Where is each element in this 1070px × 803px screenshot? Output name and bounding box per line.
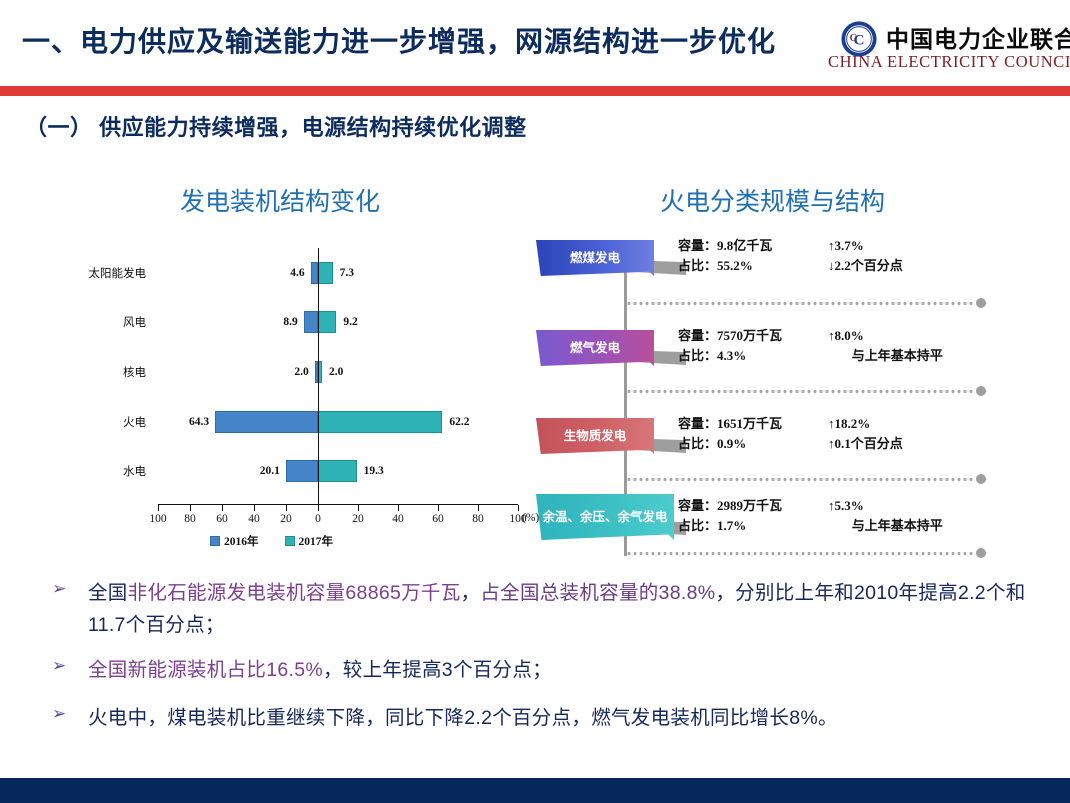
chart-value-2017: 2.0 (329, 366, 343, 378)
chart-bar-2016 (311, 262, 318, 284)
thermal-category-banner[interactable]: 生物质发电 (536, 418, 654, 454)
chart-axis-tick-label: 60 (216, 513, 228, 525)
bullet-text-part: 全国 (88, 582, 128, 604)
chart-axis-tick-label: 20 (352, 513, 364, 525)
connector-end-dot-icon (976, 386, 986, 396)
bullet-item: ➢火电中，煤电装机比重继续下降，同比下降2.2个百分点，燃气发电装机同比增长8%… (52, 703, 1032, 735)
bullet-text: 全国非化石能源发电装机容量68865万千瓦，占全国总装机容量的38.8%，分别比… (88, 578, 1032, 641)
chart-axis-tick-label: 80 (472, 513, 484, 525)
right-chart-title: 火电分类规模与结构 (660, 182, 885, 218)
chart-axis-tick-label: 40 (392, 513, 404, 525)
chart-row: 风电8.99.2 (60, 298, 520, 348)
bullet-item: ➢全国新能源装机占比16.5%，较上年提高3个百分点； (52, 655, 1032, 687)
thermal-item-text: 容量：9.8亿千瓦↑3.7%占比：55.2%↓2.2个百分点 (678, 236, 1038, 276)
chart-bar-2017 (318, 460, 357, 482)
legend-swatch-icon (285, 536, 295, 546)
dotted-connector (626, 302, 974, 305)
chart-axis-tick (358, 505, 359, 511)
chart-value-2016: 64.3 (183, 416, 209, 428)
thermal-power-breakdown-diagram: 燃煤发电容量：9.8亿千瓦↑3.7%占比：55.2%↓2.2个百分点燃气发电容量… (528, 240, 1038, 560)
connector-end-dot-icon (976, 474, 986, 484)
dotted-connector (626, 552, 974, 555)
thermal-capacity-value: 容量：1651万千瓦 (678, 414, 828, 434)
chart-value-2017: 7.3 (340, 267, 354, 279)
chart-value-2017: 19.3 (364, 465, 384, 477)
thermal-share-value: 占比：55.2% (678, 256, 828, 276)
svg-text:C: C (850, 33, 858, 44)
chart-bar-2016 (286, 460, 318, 482)
legend-item-2017: 2017年 (285, 533, 334, 549)
thermal-share-change: ↓2.2个百分点 (828, 256, 1028, 276)
thermal-capacity-change: ↑5.3% (828, 496, 1028, 516)
thermal-category-banner[interactable]: 燃气发电 (536, 330, 654, 366)
bullet-list: ➢全国非化石能源发电装机容量68865万千瓦，占全国总装机容量的38.8%，分别… (52, 578, 1032, 744)
thermal-capacity-change: ↑8.0% (828, 326, 1028, 346)
thermal-item-line: 容量：1651万千瓦↑18.2% (678, 414, 1038, 434)
thermal-item-line: 占比：1.7%与上年基本持平 (678, 516, 1038, 536)
thermal-share-change: 与上年基本持平 (818, 516, 1038, 536)
chart-value-2016: 4.6 (279, 267, 305, 279)
thermal-item-line: 占比：4.3%与上年基本持平 (678, 346, 1038, 366)
legend-swatch-icon (210, 536, 220, 546)
chart-axis-tick-label: 40 (248, 513, 260, 525)
page-title: 一、电力供应及输送能力进一步增强，网源结构进一步优化 (22, 20, 822, 60)
chart-axis-tick (478, 505, 479, 511)
chart-axis-tick-label: 0 (315, 513, 321, 525)
chart-axis-tick-label: 60 (432, 513, 444, 525)
thermal-capacity-value: 容量：9.8亿千瓦 (678, 236, 828, 256)
chart-bar-2017 (318, 411, 442, 433)
left-chart-title: 发电装机结构变化 (180, 182, 380, 218)
bullet-text-part: ， (461, 582, 481, 604)
thermal-breakdown-item: 余温、余压、余气发电容量：2989万千瓦↑5.3%占比：1.7%与上年基本持平 (528, 500, 1038, 572)
chart-x-axis: 10080604020020406080100 (158, 504, 518, 511)
chart-value-2016: 2.0 (283, 366, 309, 378)
thermal-item-text: 容量：7570万千瓦↑8.0%占比：4.3%与上年基本持平 (678, 326, 1038, 366)
chart-plot-area: 太阳能发电4.67.3风电8.99.2核电2.02.0火电64.362.2水电2… (60, 248, 520, 496)
connector-end-dot-icon (976, 548, 986, 558)
legend-label: 2016年 (224, 533, 259, 549)
chart-row: 核电2.02.0 (60, 347, 520, 397)
bullet-arrow-icon: ➢ (52, 705, 66, 722)
thermal-share-change: ↑0.1个百分点 (828, 434, 1028, 454)
chart-axis-tick (254, 505, 255, 511)
thermal-item-text: 容量：2989万千瓦↑5.3%占比：1.7%与上年基本持平 (678, 496, 1038, 536)
chart-bar-2016 (304, 311, 318, 333)
thermal-share-value: 占比：0.9% (678, 434, 828, 454)
chart-zero-axis (318, 248, 319, 504)
bullet-highlight-part: 占全国总装机容量的38.8% (480, 582, 715, 604)
thermal-capacity-change: ↑18.2% (828, 414, 1028, 434)
bullet-text: 火电中，煤电装机比重继续下降，同比下降2.2个百分点，燃气发电装机同比增长8%。 (88, 703, 1032, 735)
chart-value-2016: 20.1 (254, 465, 280, 477)
chart-bar-2017 (318, 311, 336, 333)
cec-logo: C C 中国电力企业联合会 CHINA ELECTRICITY COUNCIL (828, 18, 1058, 80)
thermal-item-line: 容量：2989万千瓦↑5.3% (678, 496, 1038, 516)
footer-navy-bar (0, 778, 1070, 803)
chart-axis-tick-label: 100 (149, 513, 166, 525)
legend-label: 2017年 (299, 533, 334, 549)
chart-axis-tick (438, 505, 439, 511)
thermal-item-text: 容量：1651万千瓦↑18.2%占比：0.9%↑0.1个百分点 (678, 414, 1038, 454)
chart-axis-tick (398, 505, 399, 511)
chart-legend: 2016年 2017年 (210, 533, 333, 549)
thermal-share-change: 与上年基本持平 (818, 346, 1038, 366)
thermal-category-banner[interactable]: 余温、余压、余气发电 (536, 494, 674, 540)
chart-row: 太阳能发电4.67.3 (60, 248, 520, 298)
chart-category-label: 水电 (60, 463, 146, 479)
logo-english-name: CHINA ELECTRICITY COUNCIL (828, 52, 1058, 72)
bullet-text: 全国新能源装机占比16.5%，较上年提高3个百分点； (88, 655, 1032, 687)
bullet-text-part: ，较上年提高3个百分点； (323, 659, 552, 681)
thermal-share-value: 占比：4.3% (678, 346, 818, 366)
slide: 一、电力供应及输送能力进一步增强，网源结构进一步优化 C C 中国电力企业联合会… (0, 0, 1070, 803)
bullet-item: ➢全国非化石能源发电装机容量68865万千瓦，占全国总装机容量的38.8%，分别… (52, 578, 1032, 641)
chart-bar-2016 (215, 411, 318, 433)
chart-category-label: 核电 (60, 364, 146, 380)
thermal-item-line: 占比：0.9%↑0.1个百分点 (678, 434, 1038, 454)
thermal-item-line: 容量：7570万千瓦↑8.0% (678, 326, 1038, 346)
chart-value-2017: 62.2 (449, 416, 469, 428)
thermal-capacity-value: 容量：2989万千瓦 (678, 496, 828, 516)
logo-chinese-name: 中国电力企业联合会 (886, 20, 1070, 54)
bullet-text-part: 火电中，煤电装机比重继续下降，同比下降2.2个百分点，燃气发电装机同比增长8%。 (88, 707, 838, 729)
dotted-connector (626, 390, 974, 393)
chart-value-2017: 9.2 (343, 316, 357, 328)
chart-axis-tick (158, 505, 159, 511)
chart-value-2016: 8.9 (272, 316, 298, 328)
chart-category-label: 太阳能发电 (60, 265, 146, 281)
thermal-capacity-change: ↑3.7% (828, 236, 1028, 256)
thermal-category-banner[interactable]: 燃煤发电 (536, 240, 654, 276)
installed-capacity-structure-chart: 太阳能发电4.67.3风电8.99.2核电2.02.0火电64.362.2水电2… (60, 248, 520, 548)
bullet-arrow-icon: ➢ (52, 657, 66, 674)
chart-axis-tick (222, 505, 223, 511)
chart-category-label: 风电 (60, 314, 146, 330)
header-red-rule (0, 86, 1070, 96)
chart-row: 火电64.362.2 (60, 397, 520, 447)
chart-axis-tick-label: 20 (280, 513, 292, 525)
chart-bar-2017 (318, 262, 333, 284)
section-subheading: （一） 供应能力持续增强，电源结构持续优化调整 (25, 110, 527, 142)
chart-axis-tick (518, 505, 519, 511)
bullet-highlight-part: 非化石能源发电装机容量68865万千瓦 (128, 582, 461, 604)
slide-header: 一、电力供应及输送能力进一步增强，网源结构进一步优化 C C 中国电力企业联合会… (0, 0, 1070, 92)
chart-axis-tick (190, 505, 191, 511)
chart-axis-tick (318, 505, 319, 511)
thermal-item-line: 容量：9.8亿千瓦↑3.7% (678, 236, 1038, 256)
chart-row: 水电20.119.3 (60, 446, 520, 496)
thermal-capacity-value: 容量：7570万千瓦 (678, 326, 828, 346)
bullet-arrow-icon: ➢ (52, 580, 66, 597)
chart-axis-tick (286, 505, 287, 511)
legend-item-2016: 2016年 (210, 533, 259, 549)
chart-axis-tick-label: 80 (184, 513, 196, 525)
dotted-connector (626, 478, 974, 481)
footer-spacer (0, 752, 1070, 776)
thermal-item-line: 占比：55.2%↓2.2个百分点 (678, 256, 1038, 276)
thermal-share-value: 占比：1.7% (678, 516, 818, 536)
connector-end-dot-icon (976, 298, 986, 308)
bullet-highlight-part: 全国新能源装机占比16.5% (88, 659, 323, 681)
chart-category-label: 火电 (60, 414, 146, 430)
